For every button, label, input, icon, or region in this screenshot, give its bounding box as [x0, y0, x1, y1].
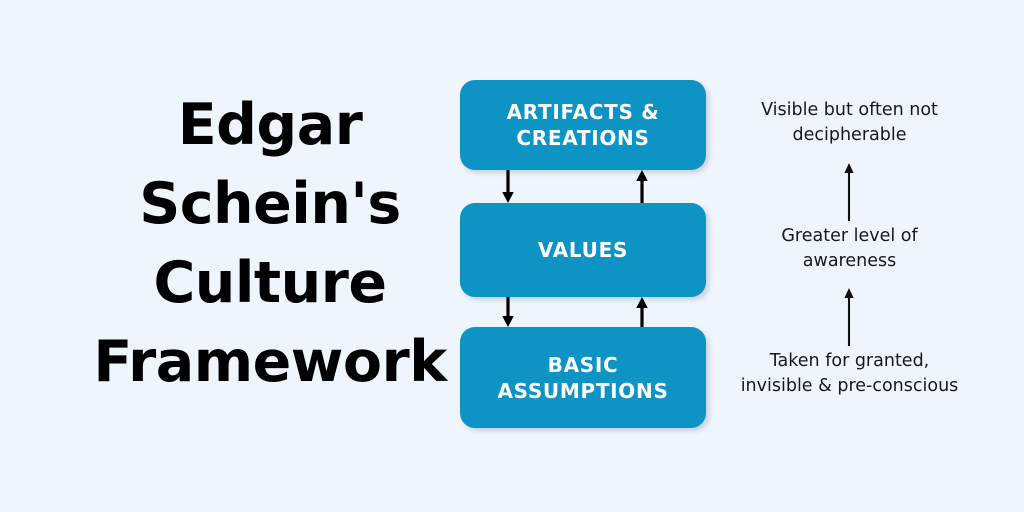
diagram-canvas: Edgar Schein's Culture Framework ARTIFAC…: [0, 0, 1024, 512]
annotation-visible-not-decipherable: Visible but often not decipherable: [722, 98, 977, 148]
annotation-middle-line1: Greater level of: [781, 226, 917, 246]
annotation-bottom-line1: Taken for granted,: [770, 351, 930, 371]
level-box-artifacts[interactable]: ARTIFACTS & CREATIONS: [460, 80, 706, 170]
annotation-top-line2: decipherable: [793, 125, 907, 145]
culture-levels-column: ARTIFACTS & CREATIONS VALUES BASIC ASSUM…: [460, 80, 706, 428]
level-label-values-line1: VALUES: [538, 238, 628, 262]
annotation-taken-for-granted: Taken for granted, invisible & pre-consc…: [722, 349, 977, 399]
level-label-basic-line2: ASSUMPTIONS: [497, 379, 668, 403]
level-label-values: VALUES: [538, 237, 628, 263]
title-line-4: Framework: [90, 323, 450, 402]
level-label-basic-assumptions: BASIC ASSUMPTIONS: [497, 352, 668, 404]
arrow-down-values-to-basic-icon: [497, 297, 519, 327]
level-box-values[interactable]: VALUES: [460, 203, 706, 297]
title-line-1: Edgar: [90, 86, 450, 165]
page-title: Edgar Schein's Culture Framework: [90, 86, 450, 402]
level-box-basic-assumptions[interactable]: BASIC ASSUMPTIONS: [460, 327, 706, 428]
annotations-column: Visible but often not decipherable Great…: [722, 86, 977, 426]
title-line-3: Culture: [90, 244, 450, 323]
title-line-2: Schein's: [90, 165, 450, 244]
level-label-artifacts: ARTIFACTS & CREATIONS: [507, 99, 660, 151]
arrow-up-awareness-lower-icon: [838, 288, 860, 346]
arrow-down-artifacts-to-values-icon: [497, 170, 519, 203]
annotation-middle-line2: awareness: [803, 251, 896, 271]
annotation-bottom-line2: invisible & pre-conscious: [741, 376, 959, 396]
annotation-greater-level-of-awareness: Greater level of awareness: [722, 224, 977, 274]
annotation-top-line1: Visible but often not: [761, 100, 938, 120]
level-label-basic-line1: BASIC: [548, 353, 619, 377]
level-label-artifacts-line2: CREATIONS: [516, 126, 649, 150]
arrow-up-basic-to-values-icon: [631, 297, 653, 327]
arrow-up-awareness-upper-icon: [838, 163, 860, 221]
level-label-artifacts-line1: ARTIFACTS &: [507, 100, 660, 124]
arrow-up-values-to-artifacts-icon: [631, 170, 653, 203]
